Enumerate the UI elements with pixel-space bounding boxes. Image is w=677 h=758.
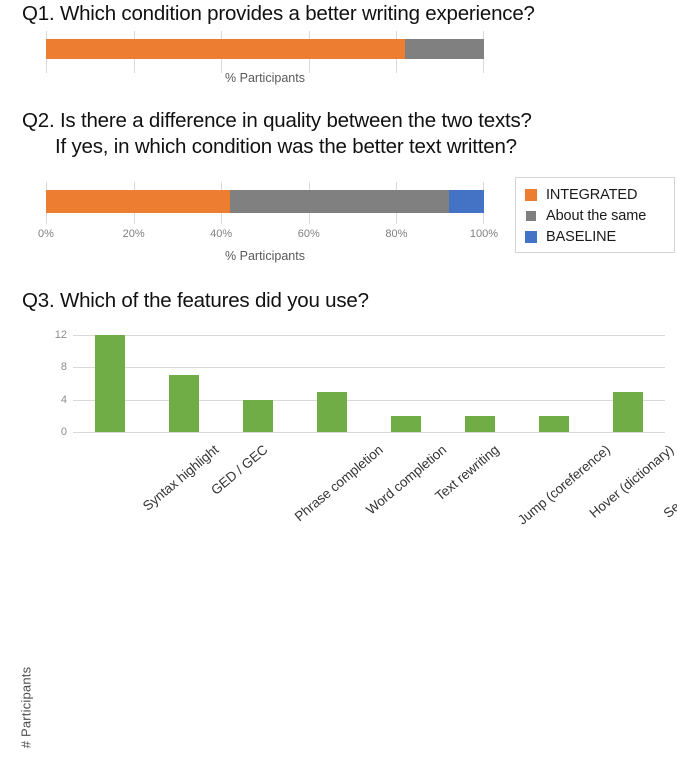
bar-search-example- xyxy=(613,392,643,432)
legend: INTEGRATEDAbout the sameBASELINE xyxy=(515,177,675,253)
bar-segment-about-the-same xyxy=(230,190,449,213)
legend-item-label: BASELINE xyxy=(546,229,616,245)
x-category-label: Syntax highlight xyxy=(140,442,221,514)
legend-swatch-icon xyxy=(525,189,537,201)
legend-item[interactable]: About the same xyxy=(525,205,666,226)
q3-title: Q3. Which of the features did you use? xyxy=(22,289,369,313)
legend-item-label: INTEGRATED xyxy=(546,187,637,203)
q1-title: Q1. Which condition provides a better wr… xyxy=(22,2,535,26)
q2-title-line1: Q2. Is there a difference in quality bet… xyxy=(22,109,532,133)
legend-swatch-icon xyxy=(526,211,536,221)
legend-item[interactable]: INTEGRATED xyxy=(525,184,666,205)
q3-y-axis-title: # Participants xyxy=(19,658,34,758)
x-tick-label: 80% xyxy=(385,228,407,240)
y-tick-label: 12 xyxy=(29,329,67,341)
bar-segment-baseline xyxy=(449,190,484,213)
gridline xyxy=(73,432,665,433)
x-tick-label: 100% xyxy=(470,228,498,240)
q2-stacked-bar xyxy=(46,190,484,213)
bar-ged-gec xyxy=(169,375,199,432)
bar-text-rewriting xyxy=(391,416,421,432)
x-tick-label: 40% xyxy=(210,228,232,240)
q2-title-line2: If yes, in which condition was the bette… xyxy=(55,135,517,159)
q2-x-tick-labels: 0%20%40%60%80%100% xyxy=(46,228,484,242)
bar-segment-about-the-same xyxy=(405,39,484,59)
bar-hover-dictionary- xyxy=(539,416,569,432)
y-tick-label: 4 xyxy=(29,394,67,406)
legend-swatch-icon xyxy=(525,231,537,243)
q1-axis-title: % Participants xyxy=(225,71,305,85)
bar-segment-integrated xyxy=(46,190,230,213)
bar-jump-coreference- xyxy=(465,416,495,432)
x-tick-label: 60% xyxy=(298,228,320,240)
x-tick-label: 20% xyxy=(123,228,145,240)
q1-chart xyxy=(46,31,484,73)
bar-phrase-completion xyxy=(243,400,273,432)
y-tick-label: 0 xyxy=(29,426,67,438)
bar-word-completion xyxy=(317,392,347,432)
q2-chart xyxy=(46,182,484,224)
x-tick-label: 0% xyxy=(38,228,54,240)
bar-syntax-highlight xyxy=(95,335,125,432)
legend-item-label: About the same xyxy=(546,208,646,224)
y-tick-label: 8 xyxy=(29,361,67,373)
q3-plot-area xyxy=(73,335,665,432)
bar-segment-integrated xyxy=(46,39,405,59)
legend-item[interactable]: BASELINE xyxy=(525,226,666,247)
q1-stacked-bar xyxy=(46,39,484,59)
q3-chart: # Participants 04812 Syntax highlightGED… xyxy=(0,325,677,559)
q2-axis-title: % Participants xyxy=(225,249,305,263)
